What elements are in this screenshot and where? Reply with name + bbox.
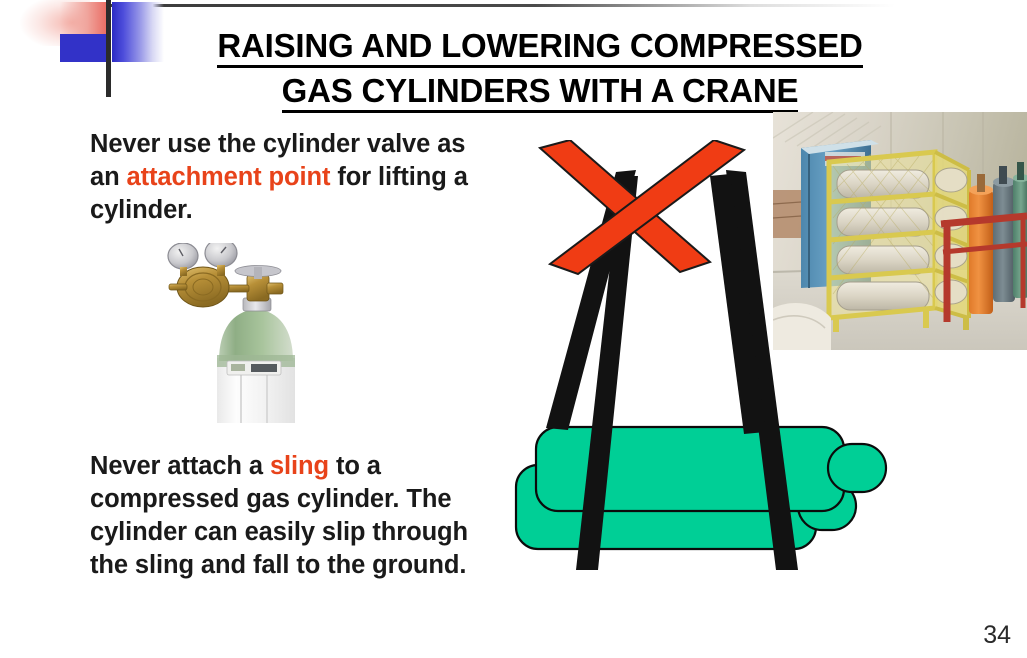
logo-vertical-line <box>106 0 111 97</box>
cylinder-storage-cage-photo <box>773 112 1027 350</box>
logo-red-square <box>60 2 110 34</box>
top-decorative-rule <box>95 4 895 7</box>
prohibition-x-mark <box>540 140 744 274</box>
paragraph-sling-warning: Never attach a sling to a compressed gas… <box>90 450 500 583</box>
slide-title-line-2: GAS CYLINDERS WITH A CRANE <box>120 69 960 114</box>
slide-title: RAISING AND LOWERING COMPRESSED GAS CYLI… <box>120 24 960 113</box>
slide-title-line-1: RAISING AND LOWERING COMPRESSED <box>120 24 960 69</box>
paragraph-sling-warning-text-1: Never attach a <box>90 452 270 480</box>
page-number: 34 <box>983 621 1011 650</box>
paragraph-valve-warning-highlight: attachment point <box>127 163 331 191</box>
compressed-gas-cylinder-with-regulator-photo <box>155 243 350 428</box>
logo-blue-square <box>60 34 110 62</box>
paragraph-sling-warning-highlight: sling <box>270 452 329 480</box>
paragraph-valve-warning: Never use the cylinder valve as an attac… <box>90 128 490 227</box>
upright-cylinders <box>969 162 1027 314</box>
